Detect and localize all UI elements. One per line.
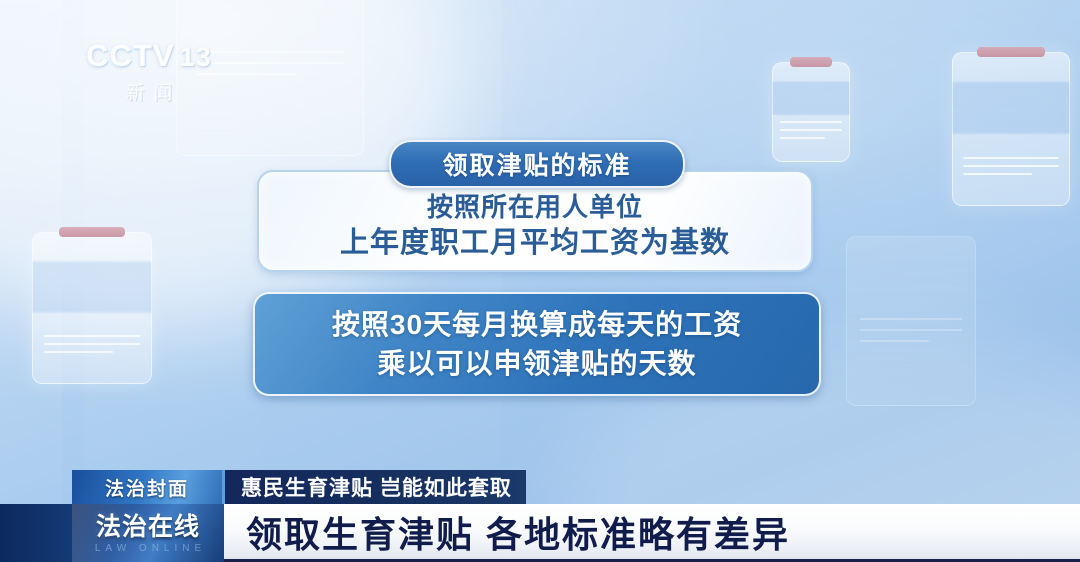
lower-third-bottom-row: 法治在线 LAW ONLINE 领取生育津贴 各地标准略有差异 bbox=[0, 504, 1080, 562]
brand-spacer bbox=[0, 504, 72, 562]
cctv-logo-mark: CCTV13 bbox=[74, 40, 224, 71]
document-card-lines bbox=[963, 157, 1058, 181]
document-card bbox=[772, 62, 850, 162]
headline-text: 领取生育津贴 各地标准略有差异 bbox=[246, 506, 790, 558]
cctv-logo-subtitle: 新闻 bbox=[74, 78, 224, 105]
document-card-tab bbox=[59, 227, 125, 237]
headline-bar: 领取生育津贴 各地标准略有差异 bbox=[224, 504, 1080, 562]
document-card bbox=[952, 52, 1070, 206]
program-logo: 法治在线 LAW ONLINE bbox=[72, 504, 224, 562]
card-blue-line-2: 乘以可以申领津贴的天数 bbox=[377, 344, 696, 383]
document-card bbox=[32, 232, 152, 384]
infographic-card-blue: 按照30天每月换算成每天的工资 乘以可以申领津贴的天数 bbox=[253, 292, 821, 396]
infographic-title-pill: 领取津贴的标准 bbox=[389, 140, 685, 188]
subheadline-text: 惠民生育津贴 岂能如此套取 bbox=[241, 472, 512, 502]
cctv-logo-text: CCTV bbox=[86, 38, 174, 73]
kicker-tag: 法治封面 bbox=[72, 470, 222, 504]
lower-third-top-row: 法治封面 惠民生育津贴 岂能如此套取 bbox=[72, 470, 526, 504]
cctv-channel-logo: CCTV13 新闻 bbox=[74, 40, 224, 105]
document-card-lines bbox=[860, 318, 962, 351]
infographic-title-text: 领取津贴的标准 bbox=[442, 146, 631, 182]
card-blue-line-1: 按照30天每月换算成每天的工资 bbox=[332, 305, 742, 344]
document-card-lines bbox=[780, 121, 842, 145]
broadcast-screenshot: CCTV13 新闻 领取津贴的标准 按照所在用人单位 上年度职工月平均工资为基数… bbox=[0, 0, 1080, 562]
document-card-lines bbox=[44, 335, 141, 359]
document-card-tab bbox=[790, 57, 832, 67]
cctv-logo-number: 13 bbox=[180, 42, 212, 72]
subheadline-bar: 惠民生育津贴 岂能如此套取 bbox=[222, 470, 526, 504]
program-name-cn: 法治在线 bbox=[96, 515, 200, 540]
program-name-en: LAW ONLINE bbox=[90, 544, 206, 554]
card-light-line-1: 按照所在用人单位 bbox=[427, 190, 643, 224]
document-card-tab bbox=[977, 47, 1045, 57]
lower-third-banner: 法治封面 惠民生育津贴 岂能如此套取 法治在线 LAW ONLINE 领取生育津… bbox=[0, 466, 1080, 562]
document-card-ghost bbox=[846, 236, 976, 406]
card-light-line-2: 上年度职工月平均工资为基数 bbox=[340, 224, 730, 262]
kicker-tag-label: 法治封面 bbox=[105, 474, 189, 501]
